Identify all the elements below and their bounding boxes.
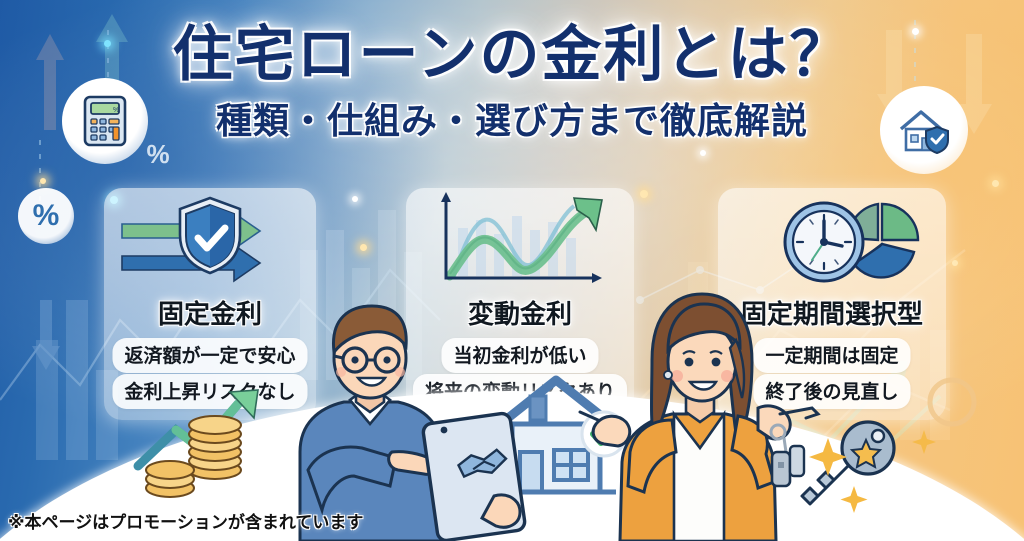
title-block: 住宅ローンの金利とは？ 種類・仕組み・選び方まで徹底解説: [0, 24, 1024, 144]
woman-with-keys: [580, 294, 818, 541]
coins-stack-icon: [138, 390, 258, 497]
page-title: 住宅ローンの金利とは？: [0, 24, 1024, 86]
promotion-disclaimer: ※本ページはプロモーションが含まれています: [8, 508, 363, 533]
page-subtitle: 種類・仕組み・選び方まで徹底解説: [0, 92, 1024, 144]
ring-decoration: [930, 380, 974, 424]
infographic-banner: % % % %: [0, 0, 1024, 541]
man-with-tablet: [300, 306, 526, 541]
key-icon: [802, 422, 894, 504]
